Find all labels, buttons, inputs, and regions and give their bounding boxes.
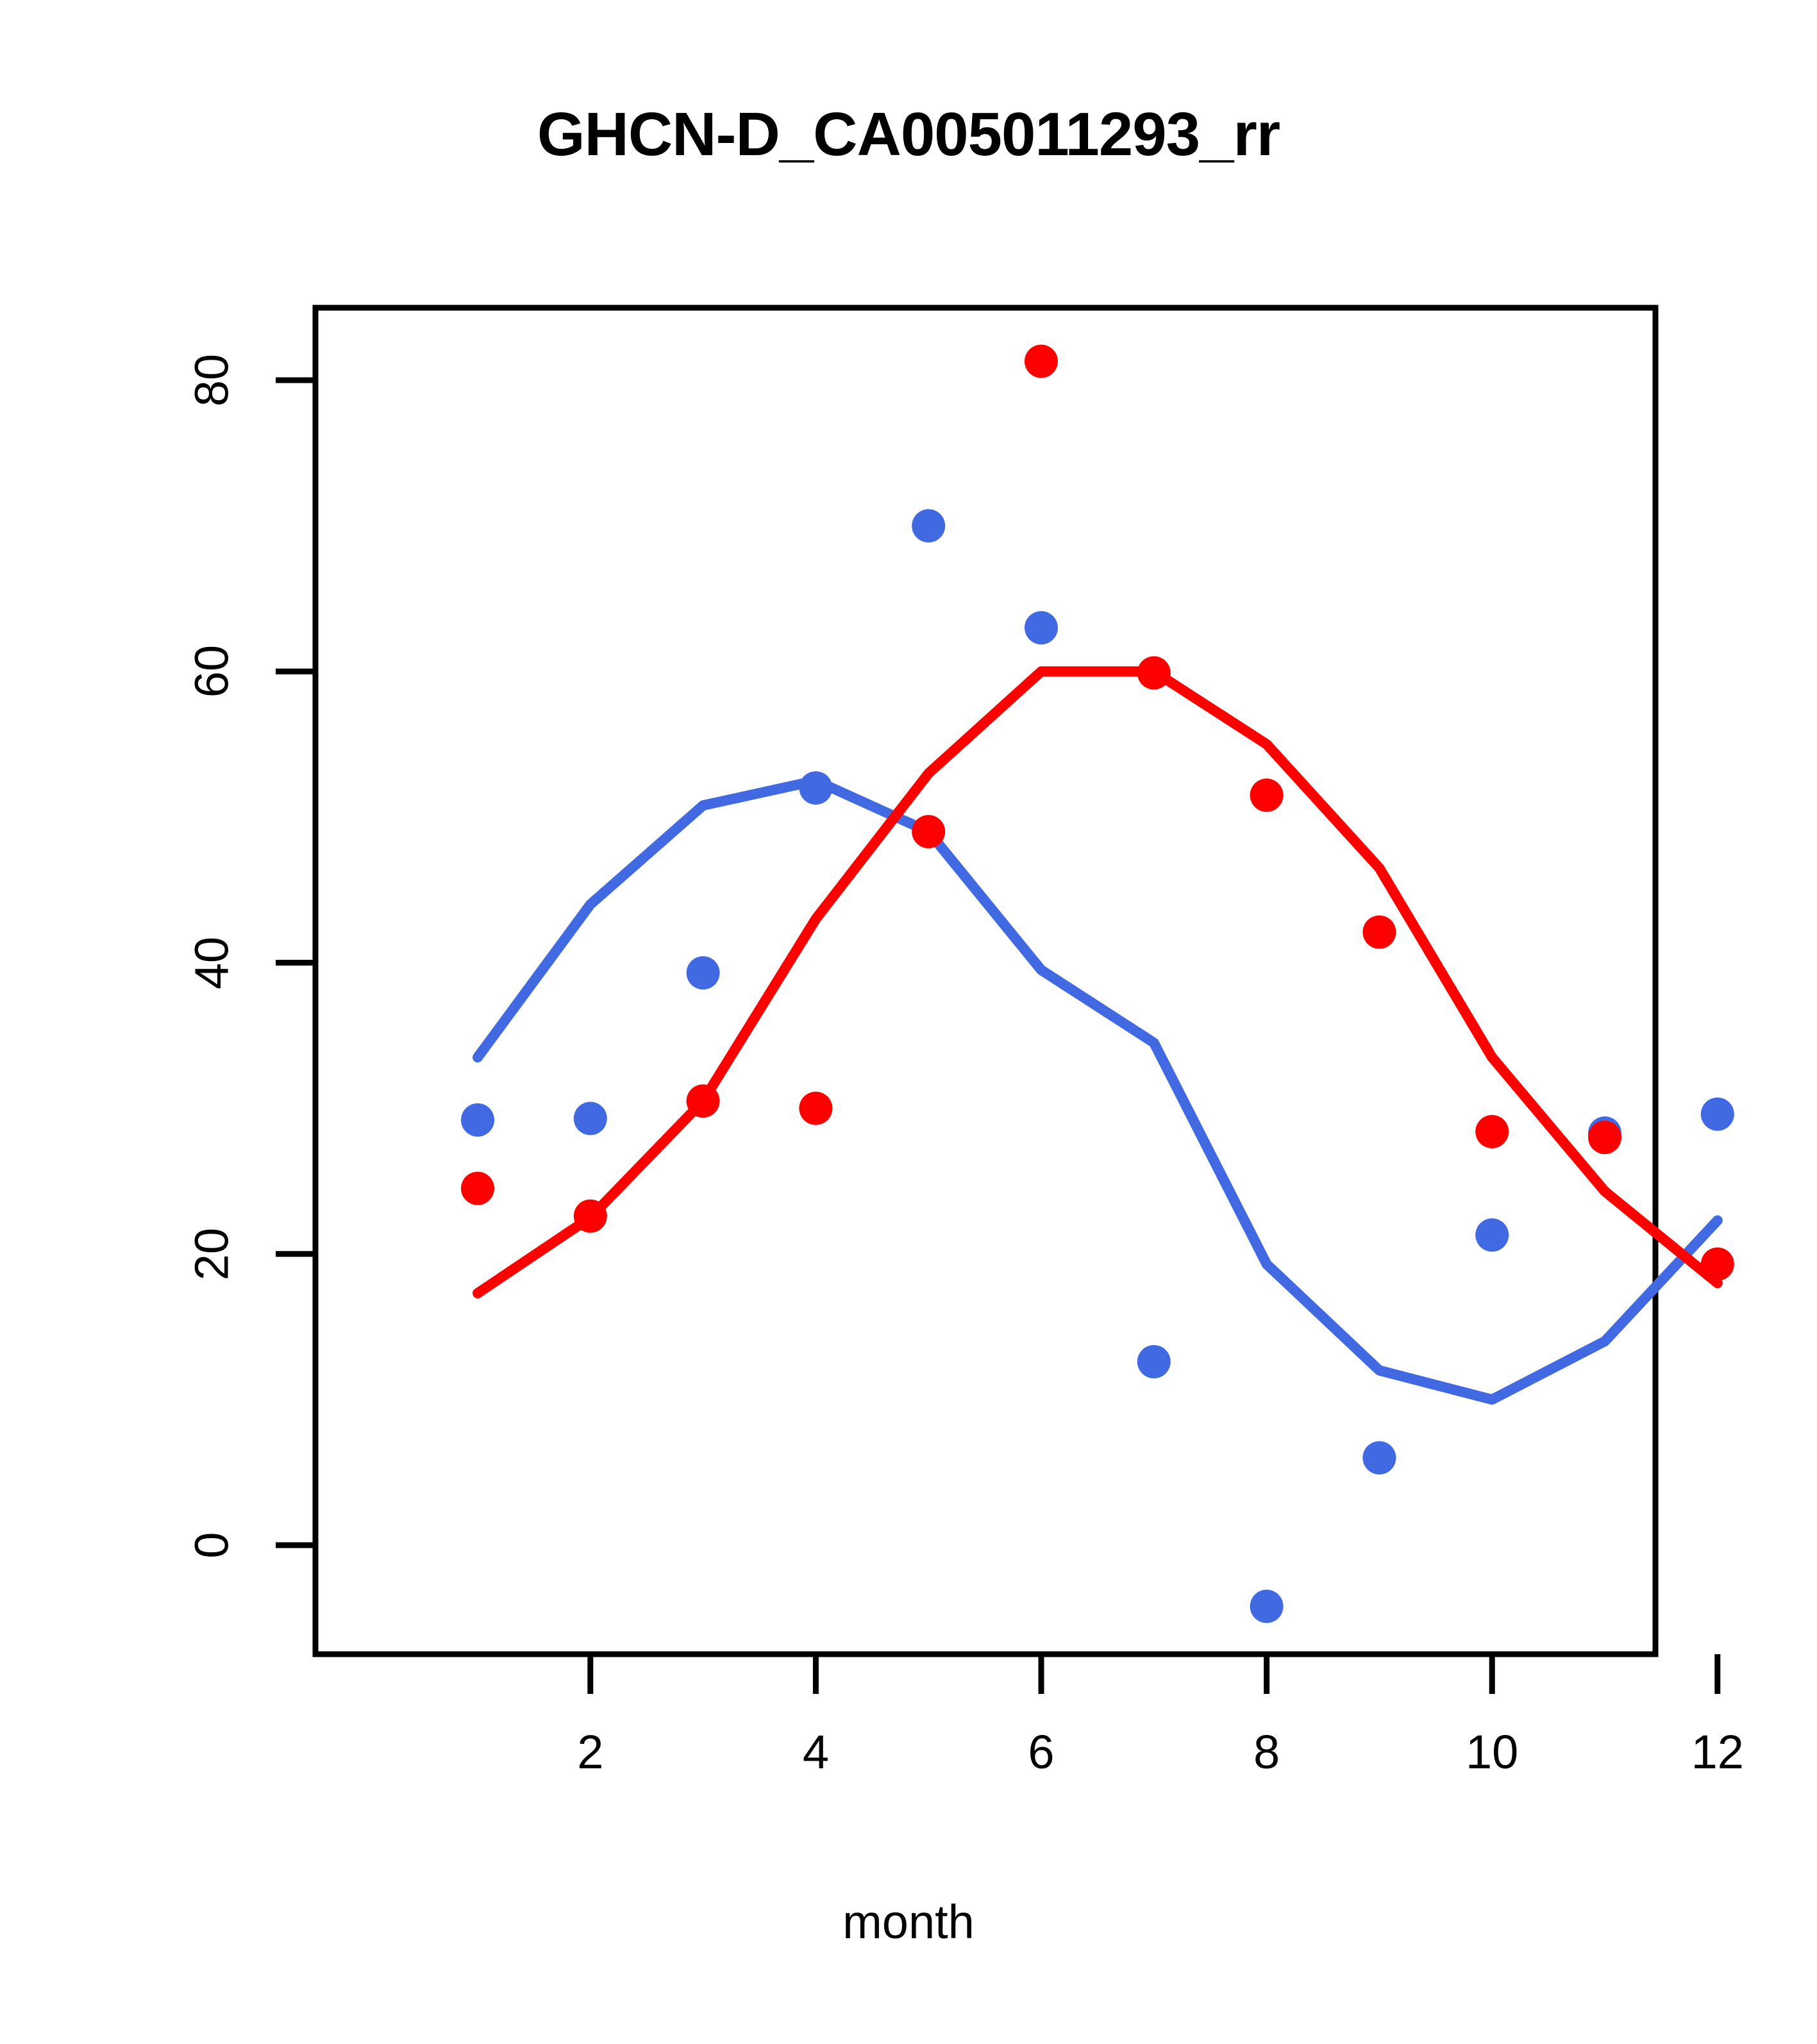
data-point-red-points — [687, 1084, 720, 1118]
data-point-blue-points — [799, 771, 832, 805]
x-axis-label: month — [0, 1895, 1817, 1949]
data-point-red-points — [912, 815, 945, 848]
data-point-red-points — [461, 1172, 494, 1205]
data-point-red-points — [1362, 916, 1396, 949]
plot-frame — [315, 308, 1655, 1654]
data-point-red-points — [1250, 778, 1284, 812]
data-point-red-points — [1137, 657, 1171, 690]
data-point-red-points — [1588, 1121, 1621, 1154]
plot-canvas — [0, 0, 1817, 2044]
data-point-red-points — [574, 1200, 607, 1233]
chart-figure: GHCN-D_CA005011293_rr 020406080 24681012… — [0, 0, 1817, 2044]
y-axis-tick-label: 0 — [185, 1532, 239, 1558]
data-point-blue-points — [1701, 1098, 1734, 1131]
data-point-red-points — [1701, 1248, 1734, 1281]
x-axis-tick-label: 8 — [1253, 1725, 1280, 1779]
y-axis-tick-label: 80 — [185, 354, 239, 406]
x-axis-tick-label: 12 — [1691, 1725, 1744, 1779]
y-axis-tick-label: 20 — [185, 1228, 239, 1280]
series-layer — [461, 344, 1734, 1623]
data-point-blue-points — [461, 1103, 494, 1137]
data-point-blue-points — [1137, 1345, 1171, 1378]
data-point-blue-points — [1250, 1589, 1284, 1623]
y-axis-tick-label: 60 — [185, 645, 239, 698]
x-axis-tick-label: 6 — [1028, 1725, 1054, 1779]
data-point-blue-points — [687, 956, 720, 989]
data-point-blue-points — [574, 1102, 607, 1135]
series-line-red-line — [478, 671, 1718, 1293]
data-point-red-points — [1475, 1115, 1509, 1148]
data-point-blue-points — [1475, 1218, 1509, 1252]
y-axis-tick-label: 40 — [185, 936, 239, 989]
data-point-blue-points — [912, 509, 945, 542]
data-point-blue-points — [1025, 611, 1058, 644]
x-axis-tick-label: 2 — [577, 1725, 603, 1779]
data-point-blue-points — [1362, 1441, 1396, 1475]
x-axis-tick-label: 10 — [1466, 1725, 1518, 1779]
axis-layer — [276, 308, 1718, 1694]
data-point-red-points — [1025, 344, 1058, 378]
series-line-blue-line — [478, 781, 1718, 1400]
x-axis-tick-label: 4 — [803, 1725, 829, 1779]
data-point-red-points — [799, 1092, 832, 1125]
